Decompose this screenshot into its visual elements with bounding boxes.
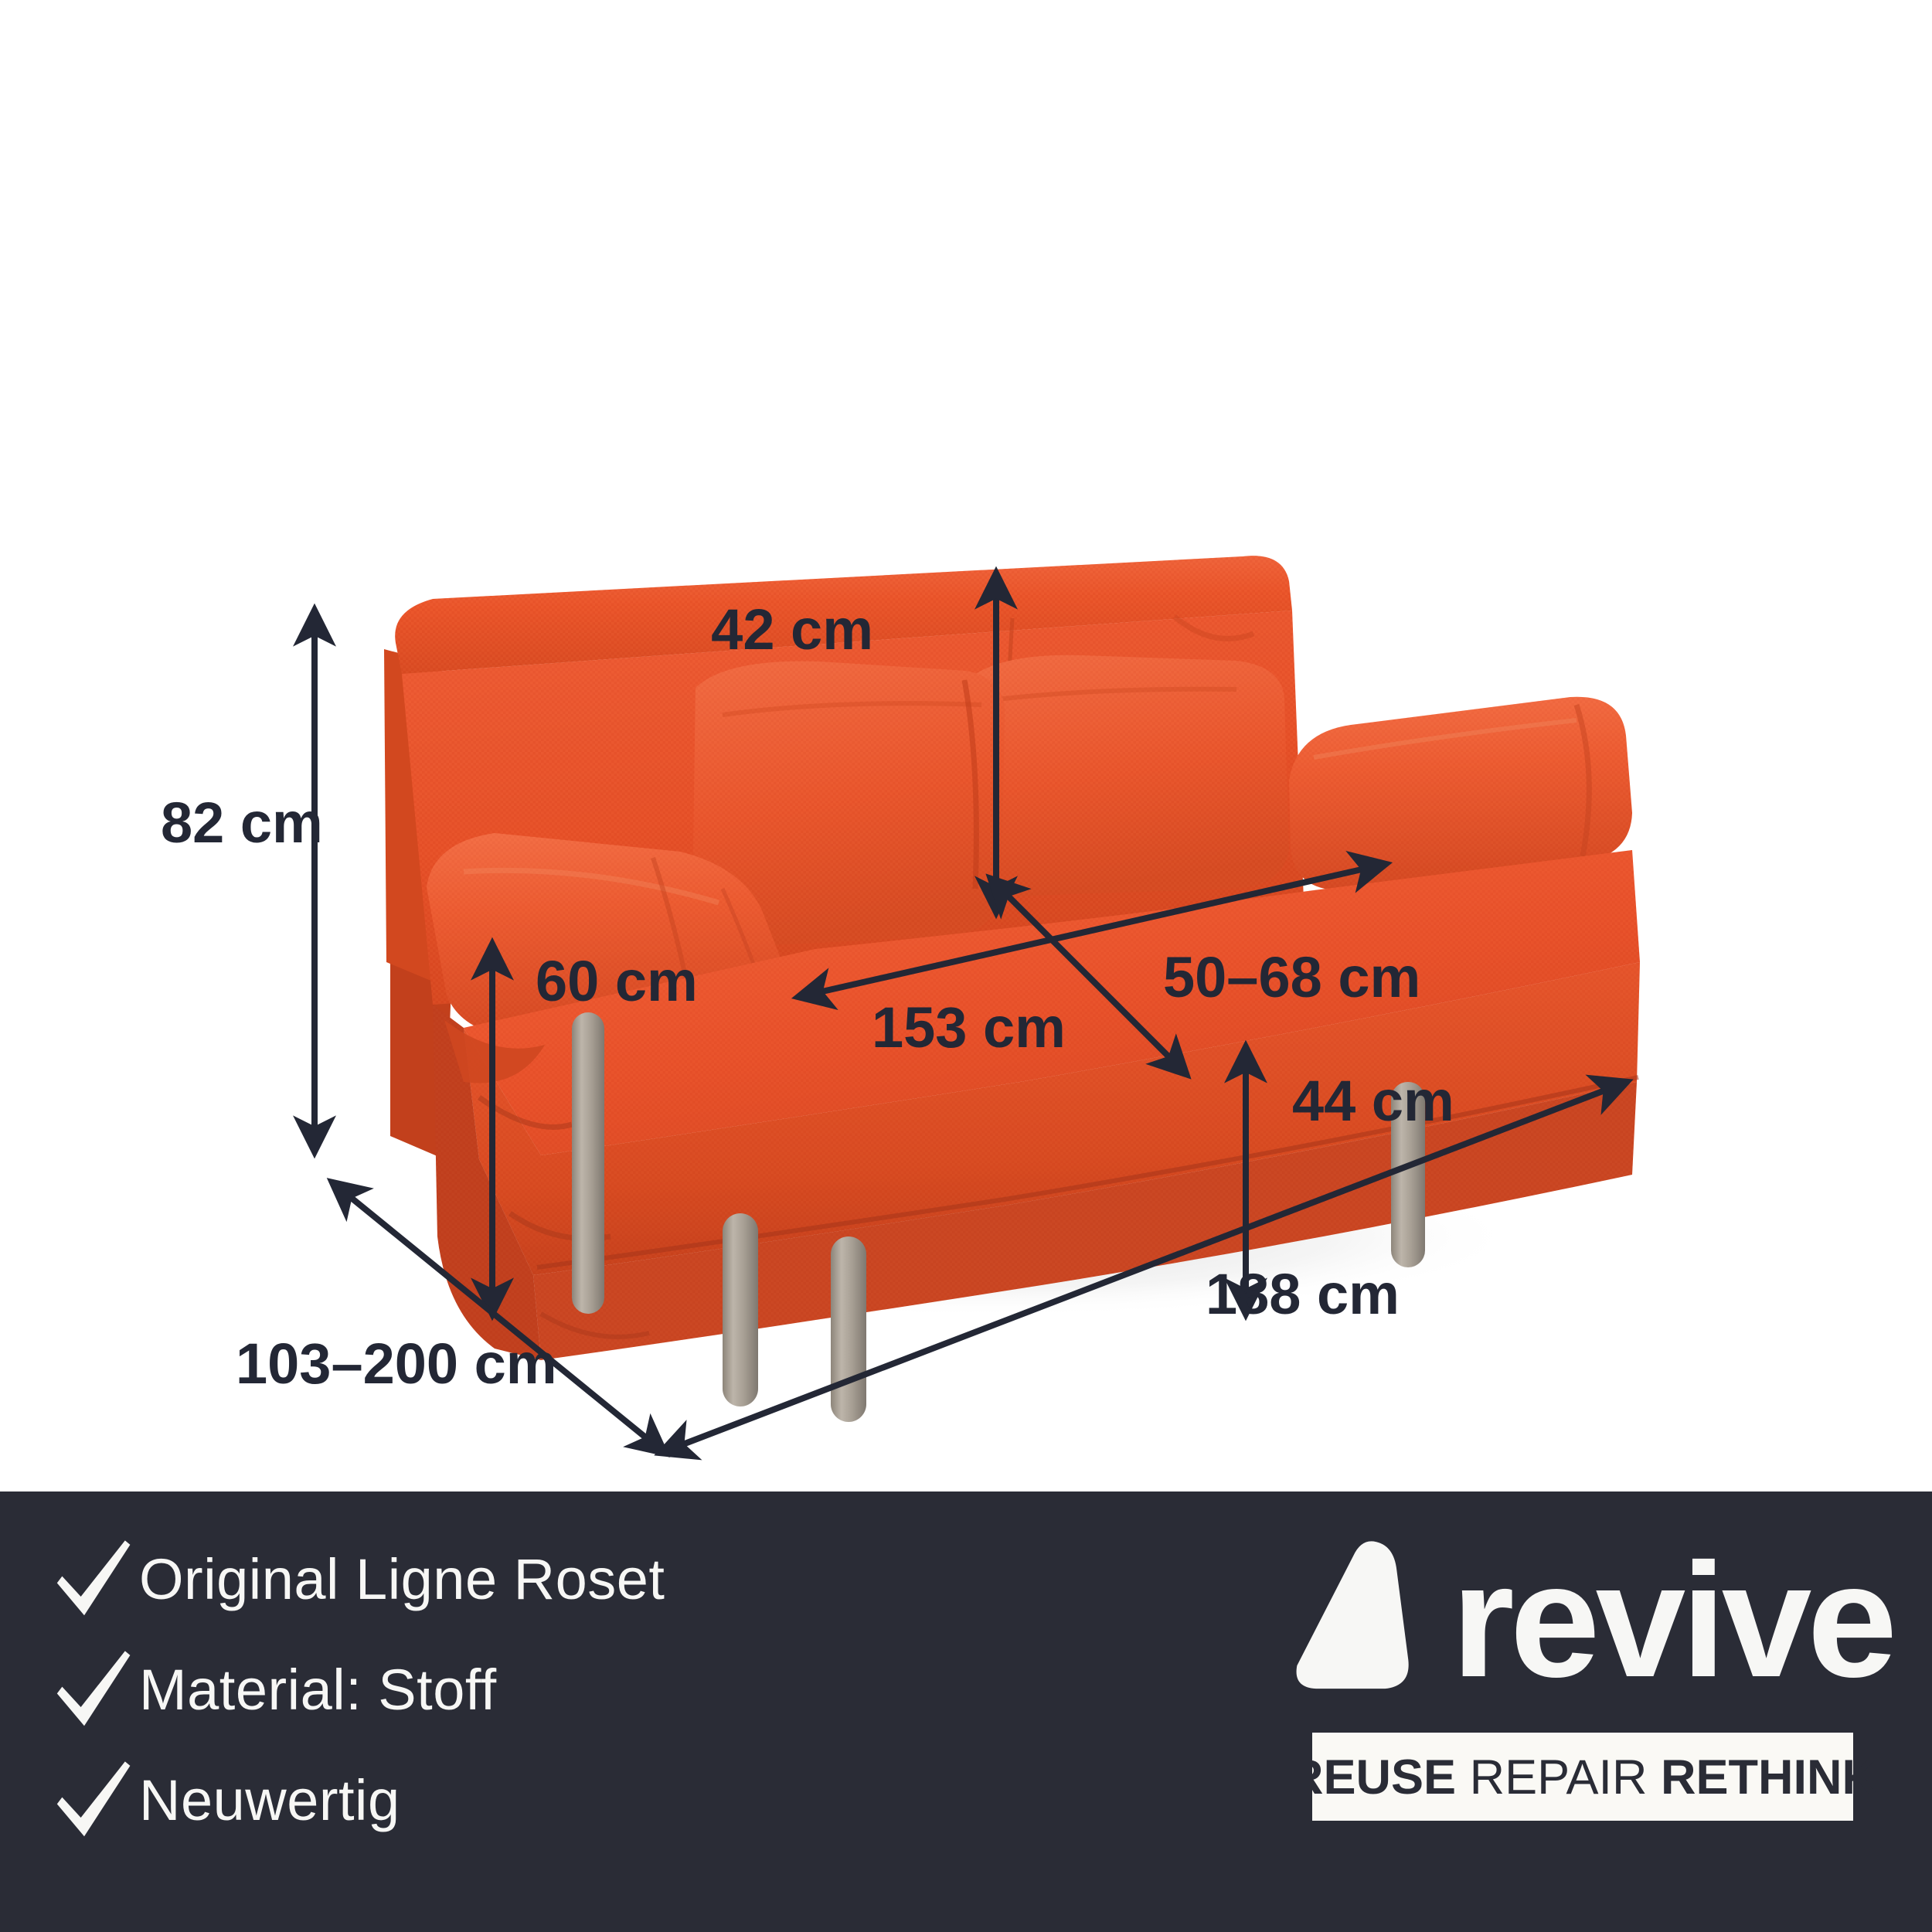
sofa-illustration: 82 cm 42 cm 60 cm 153 cm 50–68 cm 44 cm …: [0, 0, 1932, 1492]
product-photo-stage: 82 cm 42 cm 60 cm 153 cm 50–68 cm 44 cm …: [0, 0, 1932, 1492]
label-backrest-height: 42 cm: [711, 597, 873, 662]
info-footer: Original Ligne Roset Material: Stoff Neu…: [0, 1492, 1932, 1932]
revive-tagline: REUSE REPAIR RETHINK: [1288, 1750, 1877, 1805]
product-image-canvas: ligne roset: [0, 0, 1932, 1932]
tagline-rethink: RETHINK: [1661, 1750, 1877, 1804]
bullet-label: Material: Stoff: [139, 1657, 497, 1723]
list-item: Material: Stoff: [46, 1634, 665, 1745]
bullet-label: Original Ligne Roset: [139, 1546, 665, 1612]
label-total-height: 82 cm: [161, 791, 323, 855]
label-arm-height: 60 cm: [536, 949, 698, 1013]
label-seat-depth: 50–68 cm: [1163, 945, 1420, 1009]
revive-tagline-badge: REUSE REPAIR RETHINK: [1312, 1733, 1853, 1821]
bullet-label: Neuwertig: [139, 1767, 400, 1833]
revive-logo: revive REUSE REPAIR RETHINK: [1283, 1524, 1893, 1821]
revive-leaf-icon: [1283, 1536, 1437, 1706]
checkmark-icon: [46, 1758, 139, 1843]
revive-wordmark: revive: [1451, 1539, 1893, 1702]
label-seat-height: 44 cm: [1292, 1069, 1454, 1133]
list-item: Neuwertig: [46, 1745, 665, 1855]
label-total-width: 188 cm: [1206, 1262, 1400, 1326]
list-item: Original Ligne Roset: [46, 1524, 665, 1634]
checkmark-icon: [46, 1537, 139, 1622]
checkmark-icon: [46, 1648, 139, 1733]
tagline-repair: REPAIR: [1470, 1750, 1648, 1804]
leg-rear-left: [572, 1012, 604, 1314]
feature-bullet-list: Original Ligne Roset Material: Stoff Neu…: [46, 1524, 665, 1855]
label-total-depth: 103–200 cm: [236, 1332, 557, 1396]
tagline-reuse: REUSE: [1288, 1750, 1456, 1804]
leg-front-left: [723, 1213, 758, 1406]
label-seat-width: 153 cm: [872, 995, 1066, 1060]
leg-front-left-inner: [831, 1236, 866, 1422]
